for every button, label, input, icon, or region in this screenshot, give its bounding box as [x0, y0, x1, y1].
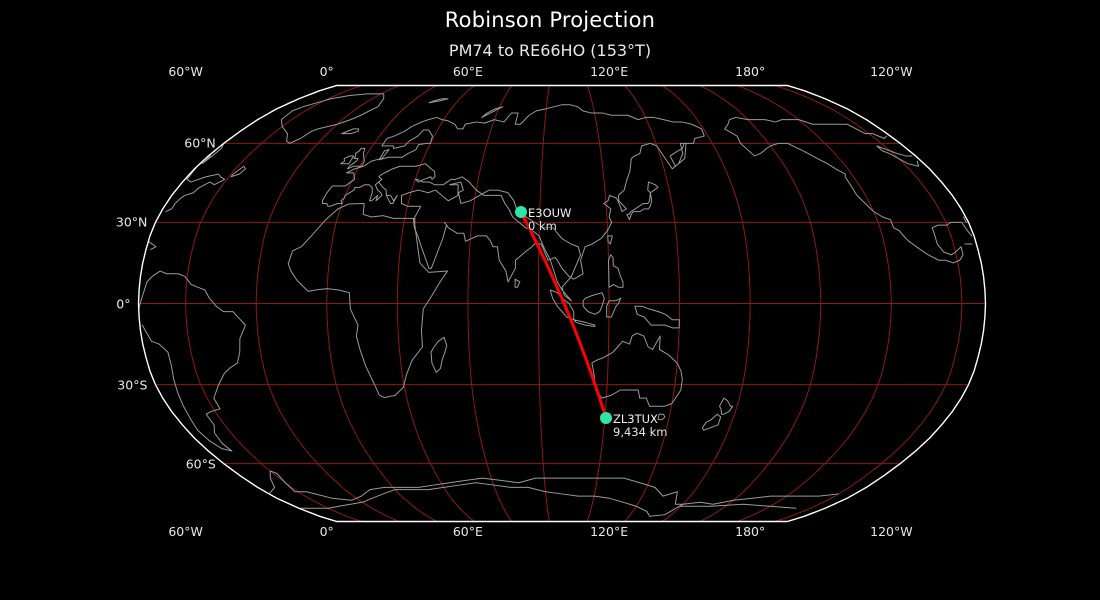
lat-tick: 0°: [0, 296, 131, 311]
lon-tick-bottom: 60°W: [168, 524, 203, 539]
origin-marker[interactable]: [515, 206, 527, 218]
lon-tick-top: 60°W: [168, 64, 203, 79]
lat-tick: 30°N: [0, 215, 147, 230]
lon-tick-top: 120°W: [870, 64, 912, 79]
lon-tick-bottom: 120°E: [590, 524, 628, 539]
lon-tick-bottom: 60°E: [453, 524, 483, 539]
lon-tick-bottom: 180°: [735, 524, 765, 539]
lon-tick-top: 120°E: [590, 64, 628, 79]
map-figure: Robinson Projection PM74 to RE66HO (153°…: [0, 0, 1100, 600]
lat-tick: 60°N: [0, 136, 216, 151]
lat-tick: 30°S: [0, 377, 147, 392]
graticule-lines: [139, 86, 986, 522]
lon-tick-top: 0°: [320, 64, 334, 79]
coastlines: [139, 94, 972, 516]
lon-tick-bottom: 0°: [320, 524, 334, 539]
origin-label: E3OUW 0 km: [528, 207, 571, 233]
world-map: [0, 0, 1100, 600]
lon-tick-top: 60°E: [453, 64, 483, 79]
origin-distance: 0 km: [528, 220, 571, 233]
lon-tick-bottom: 120°W: [870, 524, 912, 539]
destination-label: ZL3TUX 9,434 km: [613, 413, 667, 439]
destination-marker[interactable]: [600, 412, 612, 424]
destination-distance: 9,434 km: [613, 426, 667, 439]
lat-tick: 60°S: [0, 456, 216, 471]
lon-tick-top: 180°: [735, 64, 765, 79]
